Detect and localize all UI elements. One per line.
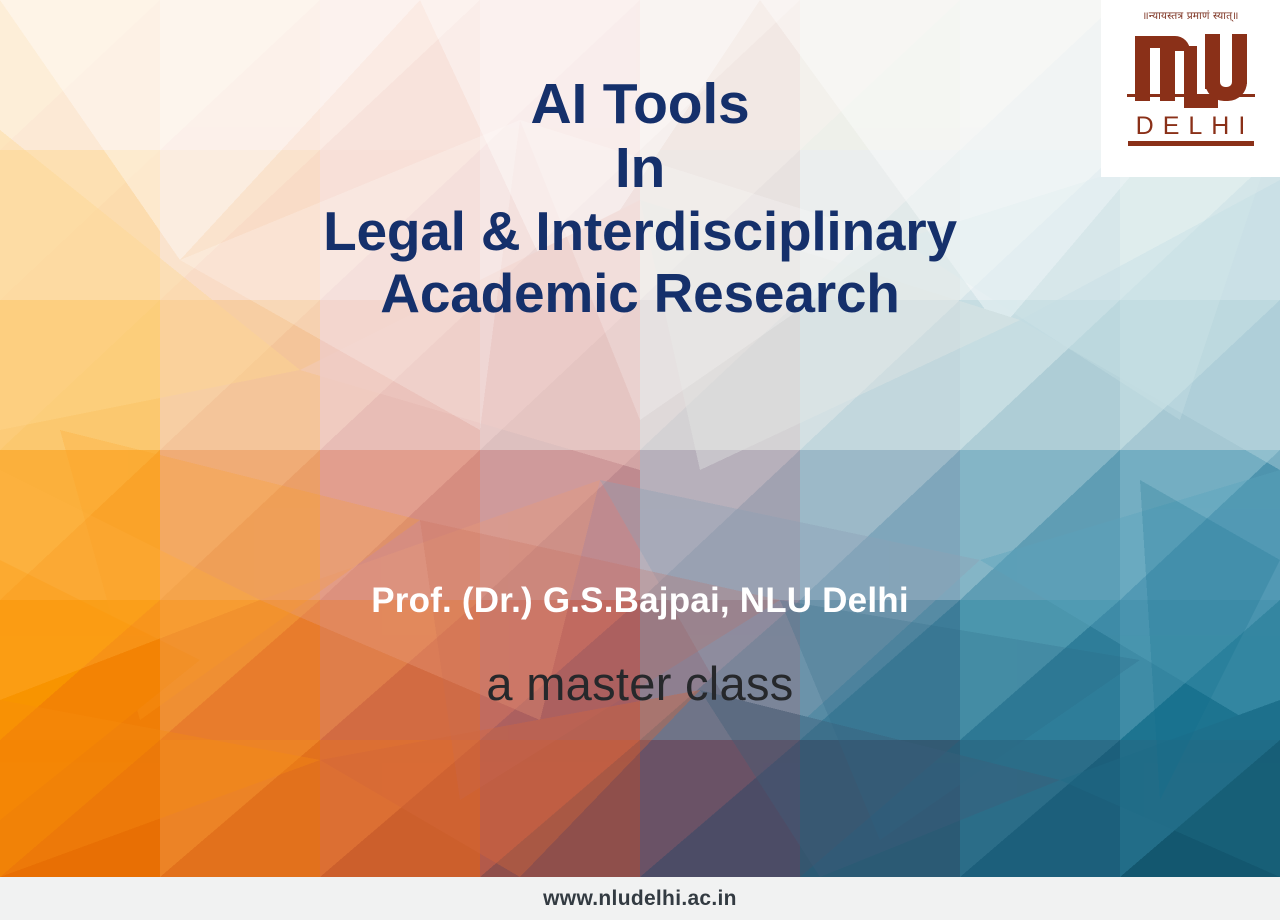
presentation-slide: ॥न्यायस्तत्र प्रमाणं स्यात्॥ (0, 0, 1280, 920)
logo-sanskrit-motto: ॥न्यायस्तत्र प्रमाणं स्यात्॥ (1142, 11, 1238, 22)
title-line-3: Legal & Interdisciplinary (0, 200, 1280, 262)
title-line-2: In (0, 136, 1280, 200)
title-line-1: AI Tools (0, 72, 1280, 136)
slide-subtitle: a master class (0, 656, 1280, 711)
slide-title: AI Tools In Legal & Interdisciplinary Ac… (0, 72, 1280, 324)
footer-website-url: www.nludelhi.ac.in (543, 887, 737, 911)
footer-bar: www.nludelhi.ac.in (0, 877, 1280, 920)
title-line-4: Academic Research (0, 262, 1280, 324)
presenter-name: Prof. (Dr.) G.S.Bajpai, NLU Delhi (0, 581, 1280, 621)
